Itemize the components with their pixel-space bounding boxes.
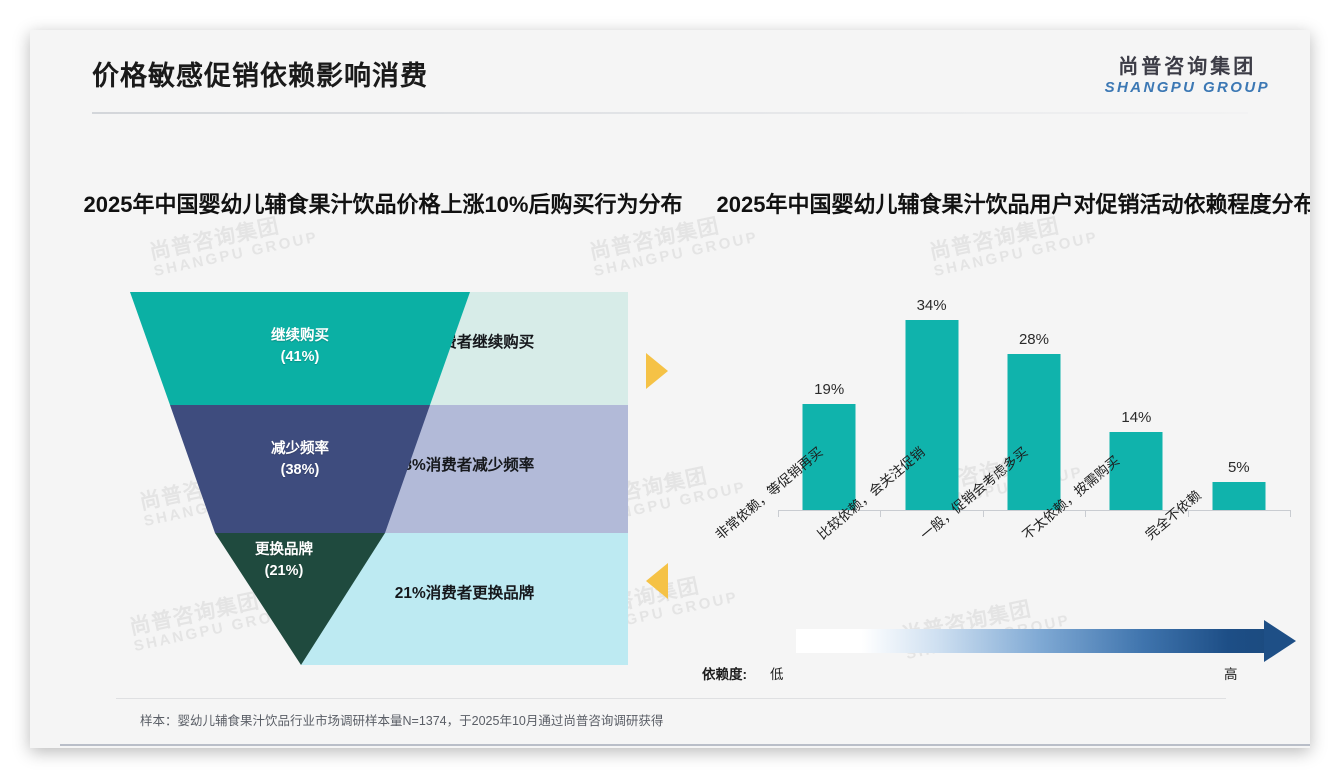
bar-value-label: 14% bbox=[1121, 409, 1151, 426]
bar-rect bbox=[905, 320, 958, 510]
funnel-label-1: 减少频率 (38%) bbox=[220, 439, 380, 481]
funnel-chart-title: 2025年中国婴幼儿辅食果汁饮品价格上涨10%后购买行为分布 bbox=[68, 190, 698, 221]
funnel-label-value-0: (41%) bbox=[281, 349, 320, 365]
header-divider bbox=[92, 112, 1248, 114]
bar-column: 5% bbox=[1188, 298, 1290, 510]
logo-text-cn: 尚普咨询集团 bbox=[1105, 56, 1270, 79]
legend-high-label: 高 bbox=[1224, 663, 1238, 683]
footnote: 样本：婴幼儿辅食果汁饮品行业市场调研样本量N=1374，于2025年10月通过尚… bbox=[140, 710, 663, 729]
footer-divider bbox=[60, 744, 1310, 746]
bar-value-label: 28% bbox=[1019, 331, 1049, 348]
funnel-label-name-1: 减少频率 bbox=[271, 441, 329, 457]
bar-rect bbox=[1007, 354, 1060, 510]
bar-rect bbox=[1110, 432, 1163, 510]
bar-value-label: 19% bbox=[814, 381, 844, 398]
legend-arrow-icon bbox=[1264, 620, 1296, 662]
bar-plot-area: 19% 34% 28% 14% 5% bbox=[778, 298, 1290, 510]
legend-caption: 依赖度: bbox=[702, 663, 747, 683]
funnel-label-name-2: 更换品牌 bbox=[255, 542, 313, 558]
funnel-label-value-1: (38%) bbox=[281, 462, 320, 478]
axis-tick bbox=[1290, 510, 1291, 517]
funnel-shape bbox=[30, 30, 670, 748]
axis-tick bbox=[983, 510, 984, 517]
arrow-right-icon bbox=[646, 353, 668, 389]
funnel-label-2: 更换品牌 (21%) bbox=[220, 540, 348, 582]
legend-low-label: 低 bbox=[770, 663, 784, 683]
axis-tick bbox=[778, 510, 779, 517]
funnel-label-name-0: 继续购买 bbox=[271, 328, 329, 344]
funnel-label-value-2: (21%) bbox=[265, 563, 304, 579]
bar-value-label: 5% bbox=[1228, 459, 1250, 476]
funnel-chart: 41%消费者继续购买 38%消费者减少频率 21%消费者更换品牌 继续购买 (4… bbox=[30, 30, 670, 748]
watermark-en: SHANGPU GROUP bbox=[932, 230, 1100, 280]
footnote-divider bbox=[116, 698, 1226, 699]
dependency-legend: 依赖度: 低 高 bbox=[702, 625, 1302, 685]
bar-value-label: 34% bbox=[917, 297, 947, 314]
company-logo: 尚普咨询集团 SHANGPU GROUP bbox=[1105, 56, 1270, 97]
slide-card: 尚普咨询集团SHANGPU GROUP 尚普咨询集团SHANGPU GROUP … bbox=[30, 30, 1310, 748]
funnel-label-0: 继续购买 (41%) bbox=[220, 326, 380, 368]
page-title: 价格敏感促销依赖影响消费 bbox=[92, 54, 428, 93]
legend-gradient-bar bbox=[796, 629, 1266, 653]
logo-text-en: SHANGPU GROUP bbox=[1105, 79, 1270, 97]
axis-tick bbox=[1085, 510, 1086, 517]
axis-tick bbox=[880, 510, 881, 517]
bar-chart-title: 2025年中国婴幼儿辅食果汁饮品用户对促销活动依赖程度分布 bbox=[706, 190, 1310, 221]
arrow-left-icon bbox=[646, 563, 668, 599]
bar-rect bbox=[1212, 482, 1265, 510]
slide-header: 价格敏感促销依赖影响消费 尚普咨询集团 SHANGPU GROUP bbox=[30, 30, 1310, 118]
